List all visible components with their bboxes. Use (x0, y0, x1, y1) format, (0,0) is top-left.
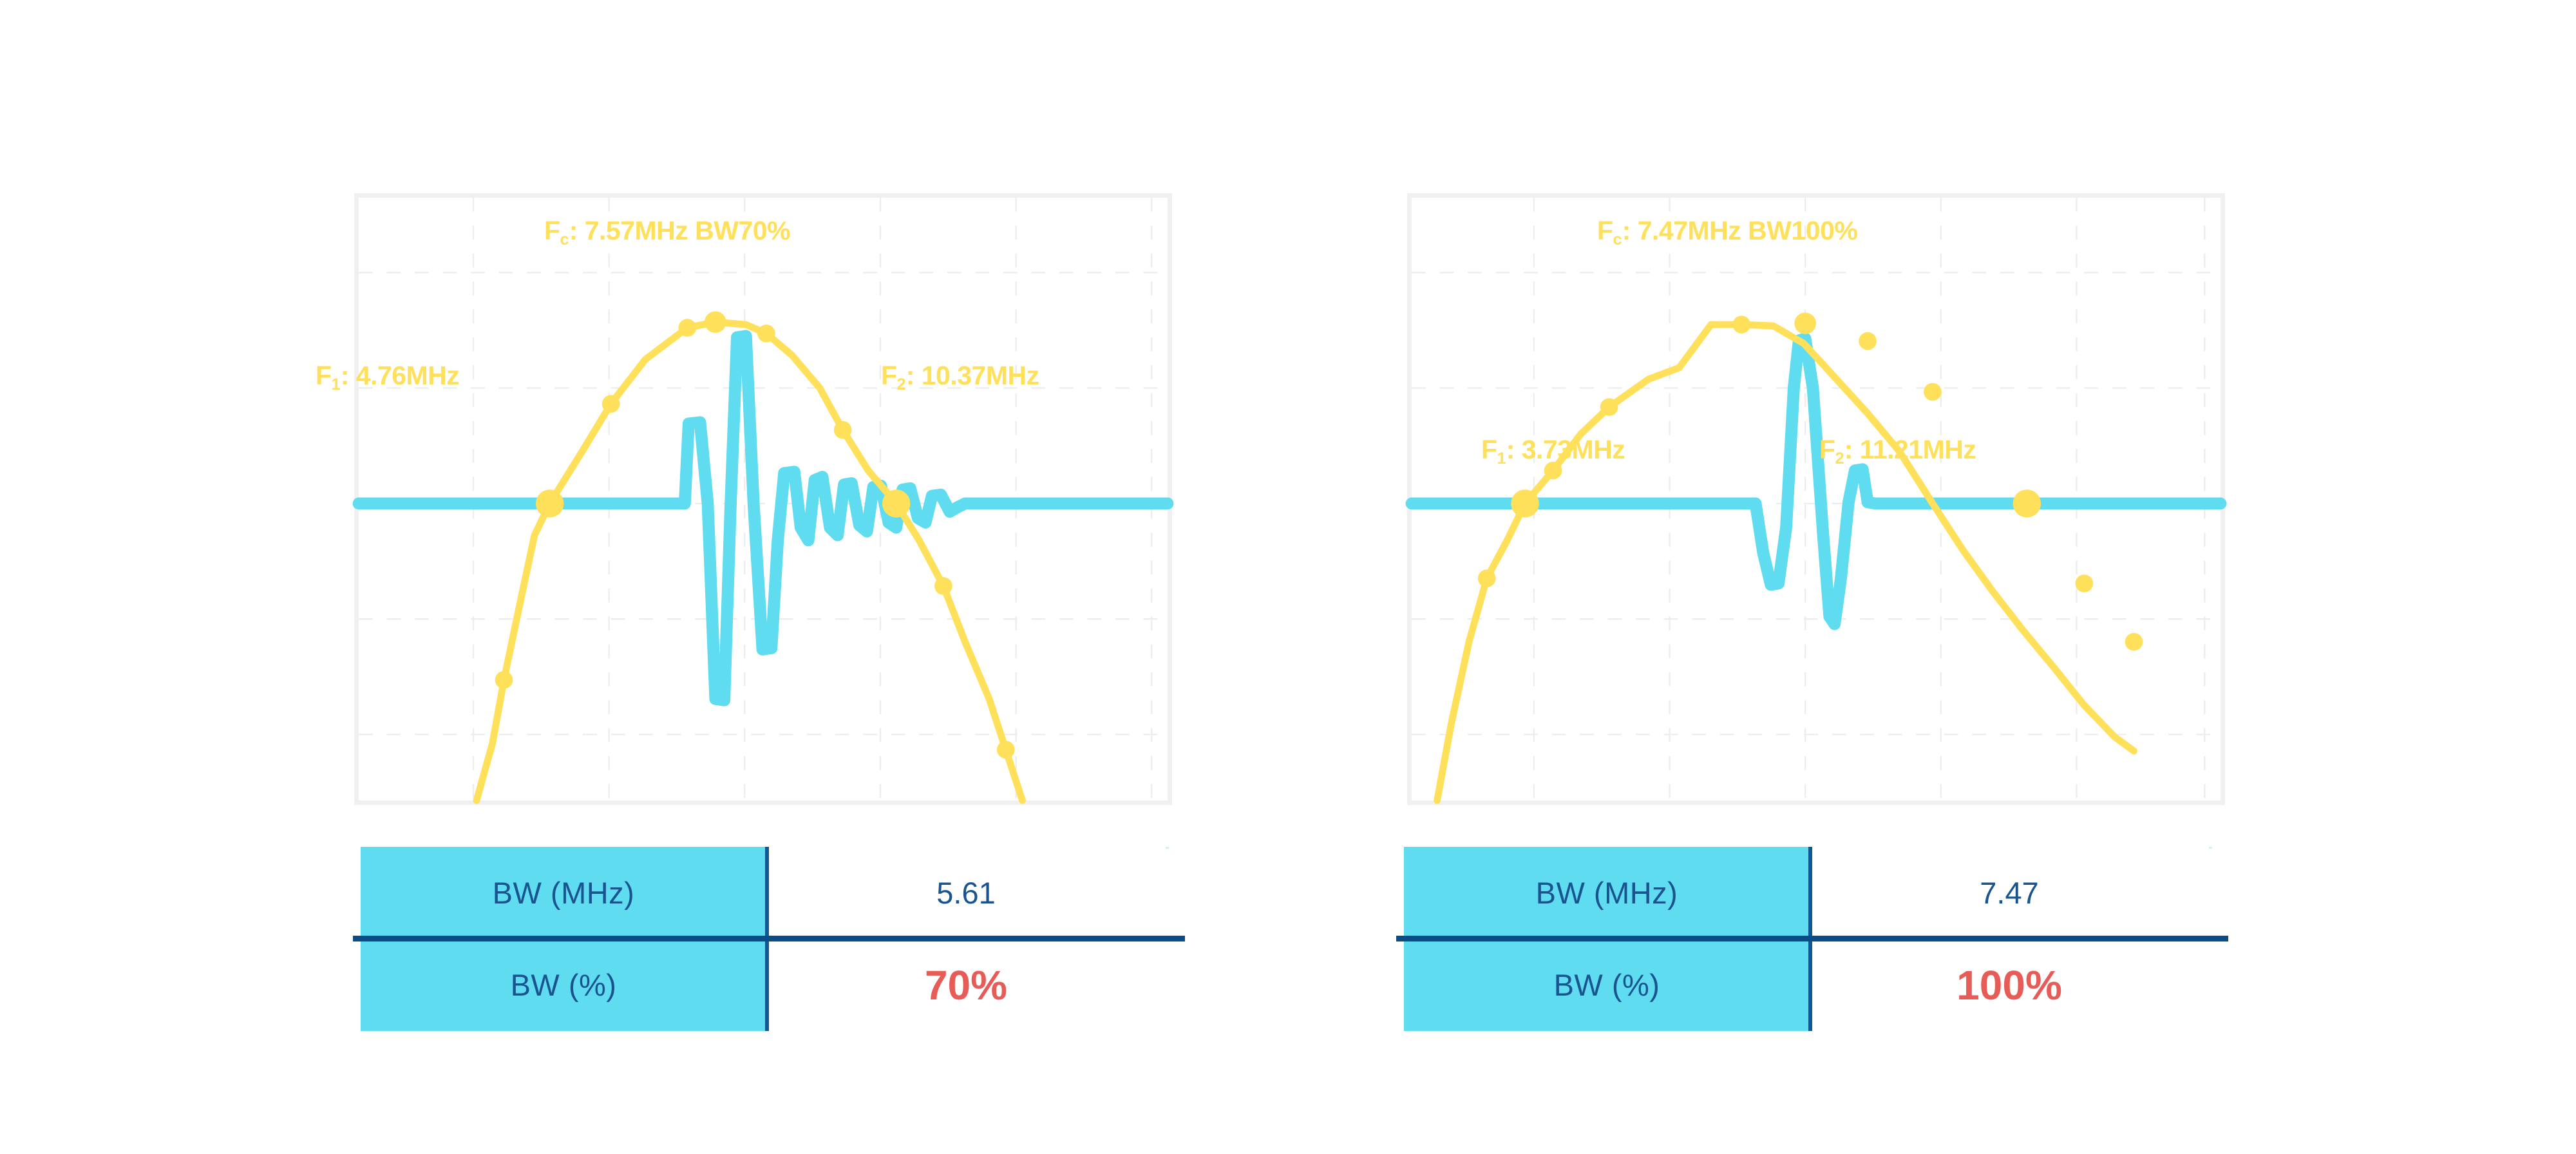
panel-right: Fc: 7.47MHz BW100% F1: 3.73MHz F2: 11.21… (1381, 0, 2283, 1154)
pulse-waveform-right (1412, 339, 2221, 624)
f1-label-left: F1: 4.76MHz (316, 361, 459, 394)
f2-value: : 11.21MHz (1844, 435, 1976, 464)
table-row: BW (%) 70% (361, 939, 1166, 1031)
spectrum-chart-left (359, 198, 1168, 800)
f1-symbol: F (1481, 435, 1497, 464)
fc-subscript: c (1613, 231, 1622, 249)
fc-symbol: F (1597, 216, 1613, 245)
center-frequency-label-left: Fc: 7.57MHz BW70% (544, 216, 790, 249)
f1-value: : 3.73MHz (1506, 435, 1625, 464)
pulse-waveform-left (359, 336, 1168, 701)
bw-summary-table-right: BW (MHz) 7.47 BW (%) 100% (1372, 847, 2209, 1031)
f2-label-right: F2: 11.21MHz (1819, 435, 1976, 468)
bw-mhz-value: 5.61 (766, 847, 1166, 939)
bw-pct-value: 70% (766, 939, 1166, 1031)
table-middle-rule (353, 936, 1185, 941)
chart-frame-right (1407, 193, 2225, 805)
table-row: BW (MHz) 7.47 (1404, 847, 2209, 939)
f2-subscript: 2 (1835, 449, 1844, 468)
f1-subscript: 1 (332, 375, 341, 393)
chart-frame-left (354, 193, 1172, 805)
bw-mhz-label: BW (MHz) (1404, 847, 1810, 939)
bw-pct-label: BW (%) (1404, 939, 1810, 1031)
table-row: BW (MHz) 5.61 (361, 847, 1166, 939)
bw-pct-label: BW (%) (361, 939, 766, 1031)
f2-value: : 10.37MHz (906, 361, 1039, 390)
bw-mhz-value: 7.47 (1810, 847, 2209, 939)
f2-symbol: F (1819, 435, 1835, 464)
bw-pct-value: 100% (1810, 939, 2209, 1031)
table-middle-rule (1396, 936, 2228, 941)
fc-symbol: F (544, 216, 560, 245)
f2-symbol: F (881, 361, 897, 390)
f1-value: : 4.76MHz (341, 361, 460, 390)
f1-symbol: F (316, 361, 332, 390)
table-row: BW (%) 100% (1404, 939, 2209, 1031)
spectrum-chart-right (1412, 198, 2221, 800)
f1-label-right: F1: 3.73MHz (1481, 435, 1625, 468)
fc-value: : 7.47MHz BW100% (1622, 216, 1858, 245)
f2-label-left: F2: 10.37MHz (881, 361, 1039, 394)
panel-left: Fc: 7.57MHz BW70% F1: 4.76MHz F2: 10.37M… (328, 0, 1230, 1154)
fc-value: : 7.57MHz BW70% (569, 216, 790, 245)
bw-mhz-label: BW (MHz) (361, 847, 766, 939)
bw-summary-table-left: BW (MHz) 5.61 BW (%) 70% (328, 847, 1166, 1031)
f1-subscript: 1 (1497, 449, 1506, 468)
center-frequency-label-right: Fc: 7.47MHz BW100% (1597, 216, 1857, 249)
fc-subscript: c (560, 231, 569, 249)
figure-root: Fc: 7.57MHz BW70% F1: 4.76MHz F2: 10.37M… (0, 0, 2576, 1154)
f2-subscript: 2 (897, 375, 906, 393)
